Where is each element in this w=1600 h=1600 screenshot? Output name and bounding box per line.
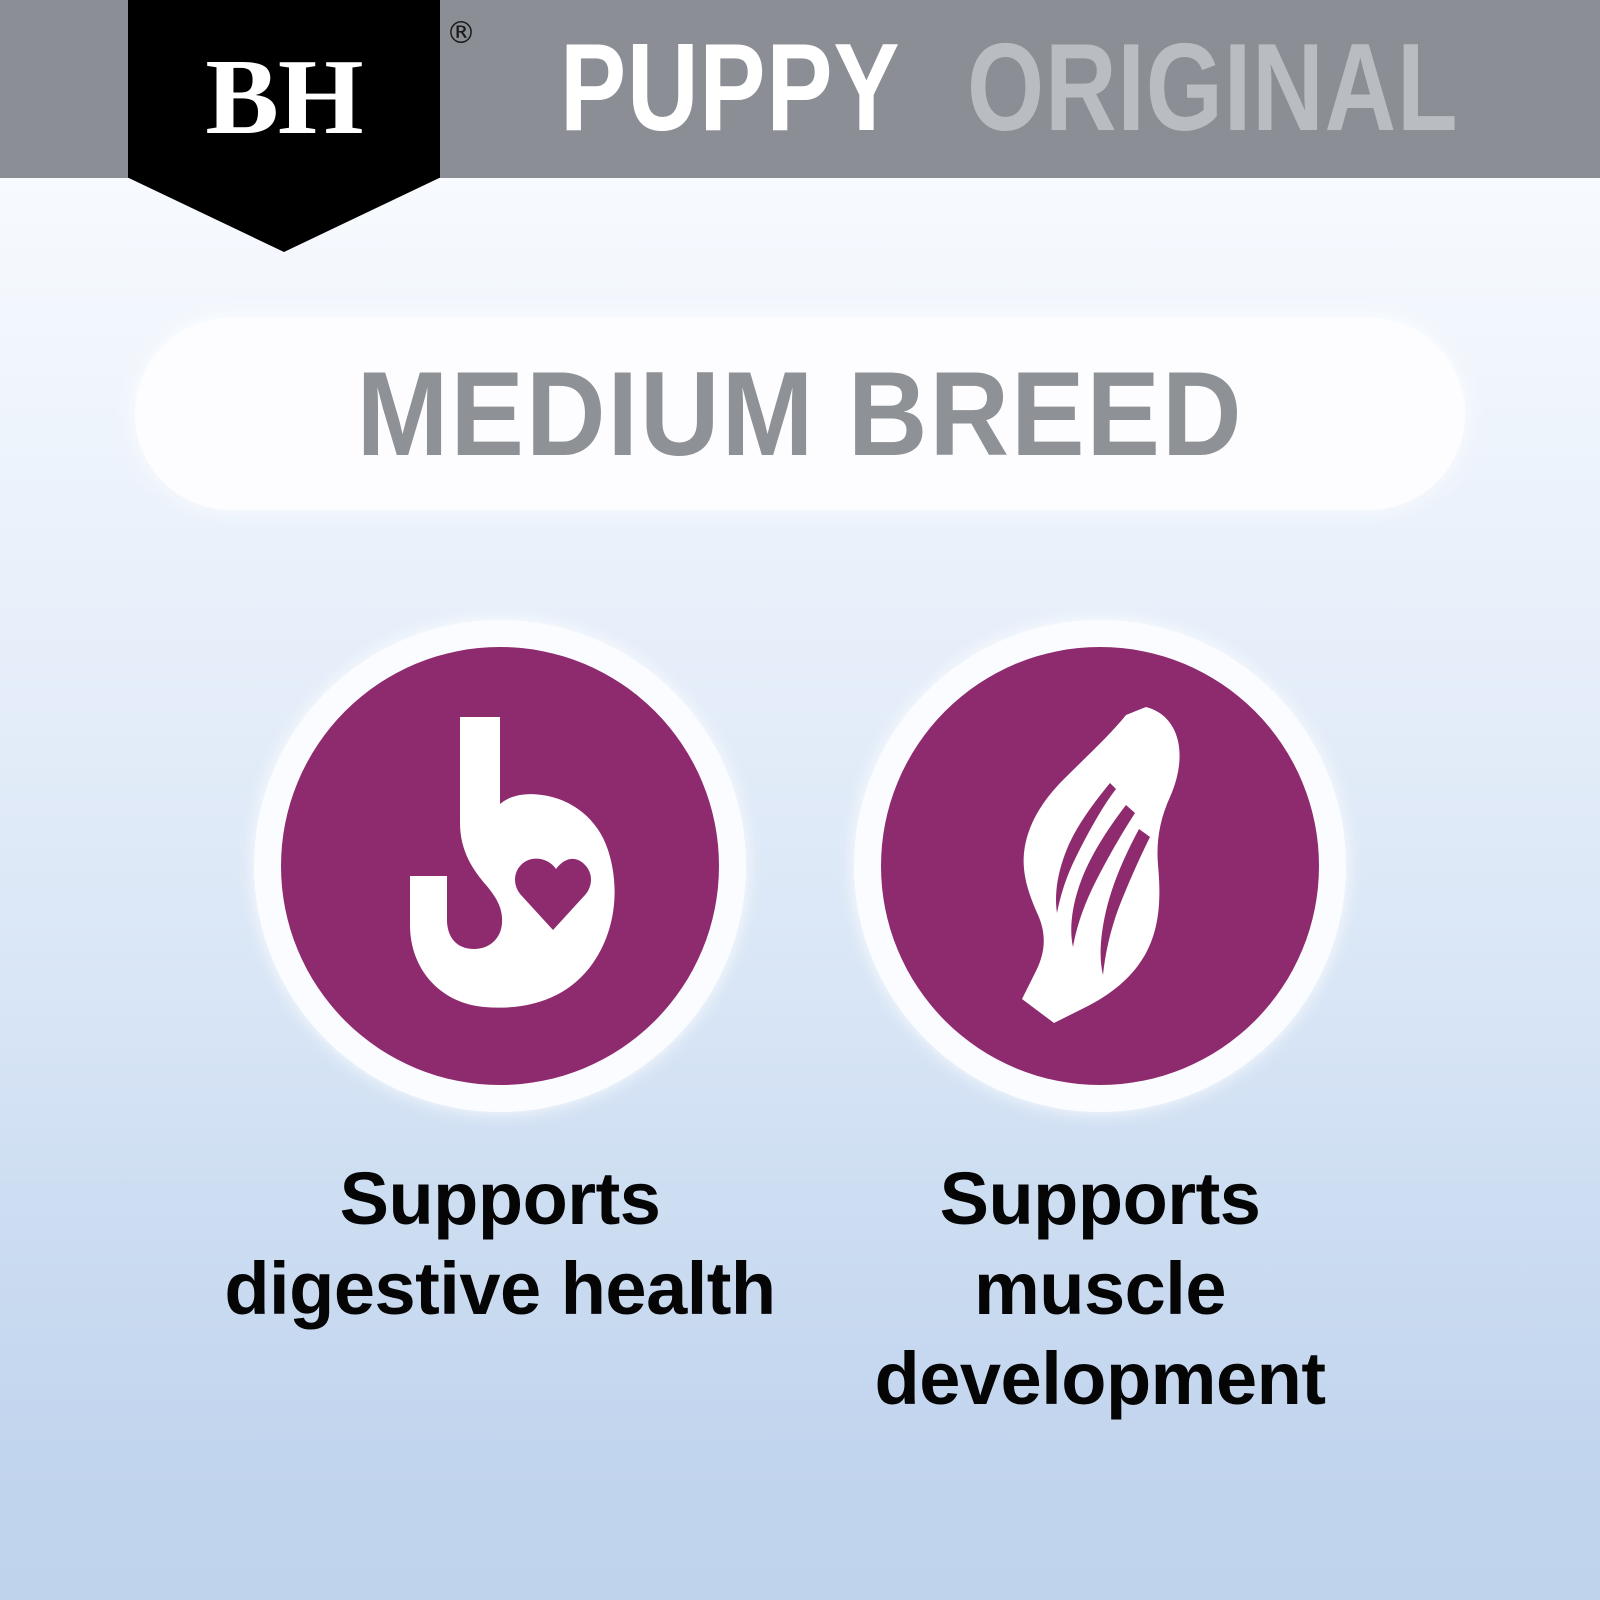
product-feature-panel: BH ® PUPPY ORIGINAL MEDIUM BREED [0,0,1600,1600]
benefit-icon-ring-muscle [854,620,1346,1112]
brand-shield-logo: BH [128,0,440,252]
registered-trademark-icon: ® [441,14,481,54]
benefit-caption-digestive: Supports digestive health [220,1154,780,1334]
benefit-caption-muscle: Supports muscle development [820,1154,1380,1424]
header-title-secondary: ORIGINAL [967,26,1458,150]
benefits-row: Supports digestive health [0,620,1600,1460]
benefit-icon-disc-digestive [281,647,719,1085]
brand-shield-label: BH [125,42,443,154]
benefit-item-muscle: Supports muscle development [800,620,1400,1424]
benefit-icon-disc-muscle [881,647,1319,1085]
benefit-icon-ring-digestive [254,620,746,1112]
muscle-icon [950,701,1250,1031]
header-title-primary: PUPPY [560,26,900,150]
stomach-heart-icon [350,711,650,1021]
breed-size-label: MEDIUM BREED [357,354,1244,474]
breed-size-badge: MEDIUM BREED [135,318,1465,510]
header-title: PUPPY ORIGINAL [560,18,1582,158]
benefit-item-digestive: Supports digestive health [200,620,800,1334]
